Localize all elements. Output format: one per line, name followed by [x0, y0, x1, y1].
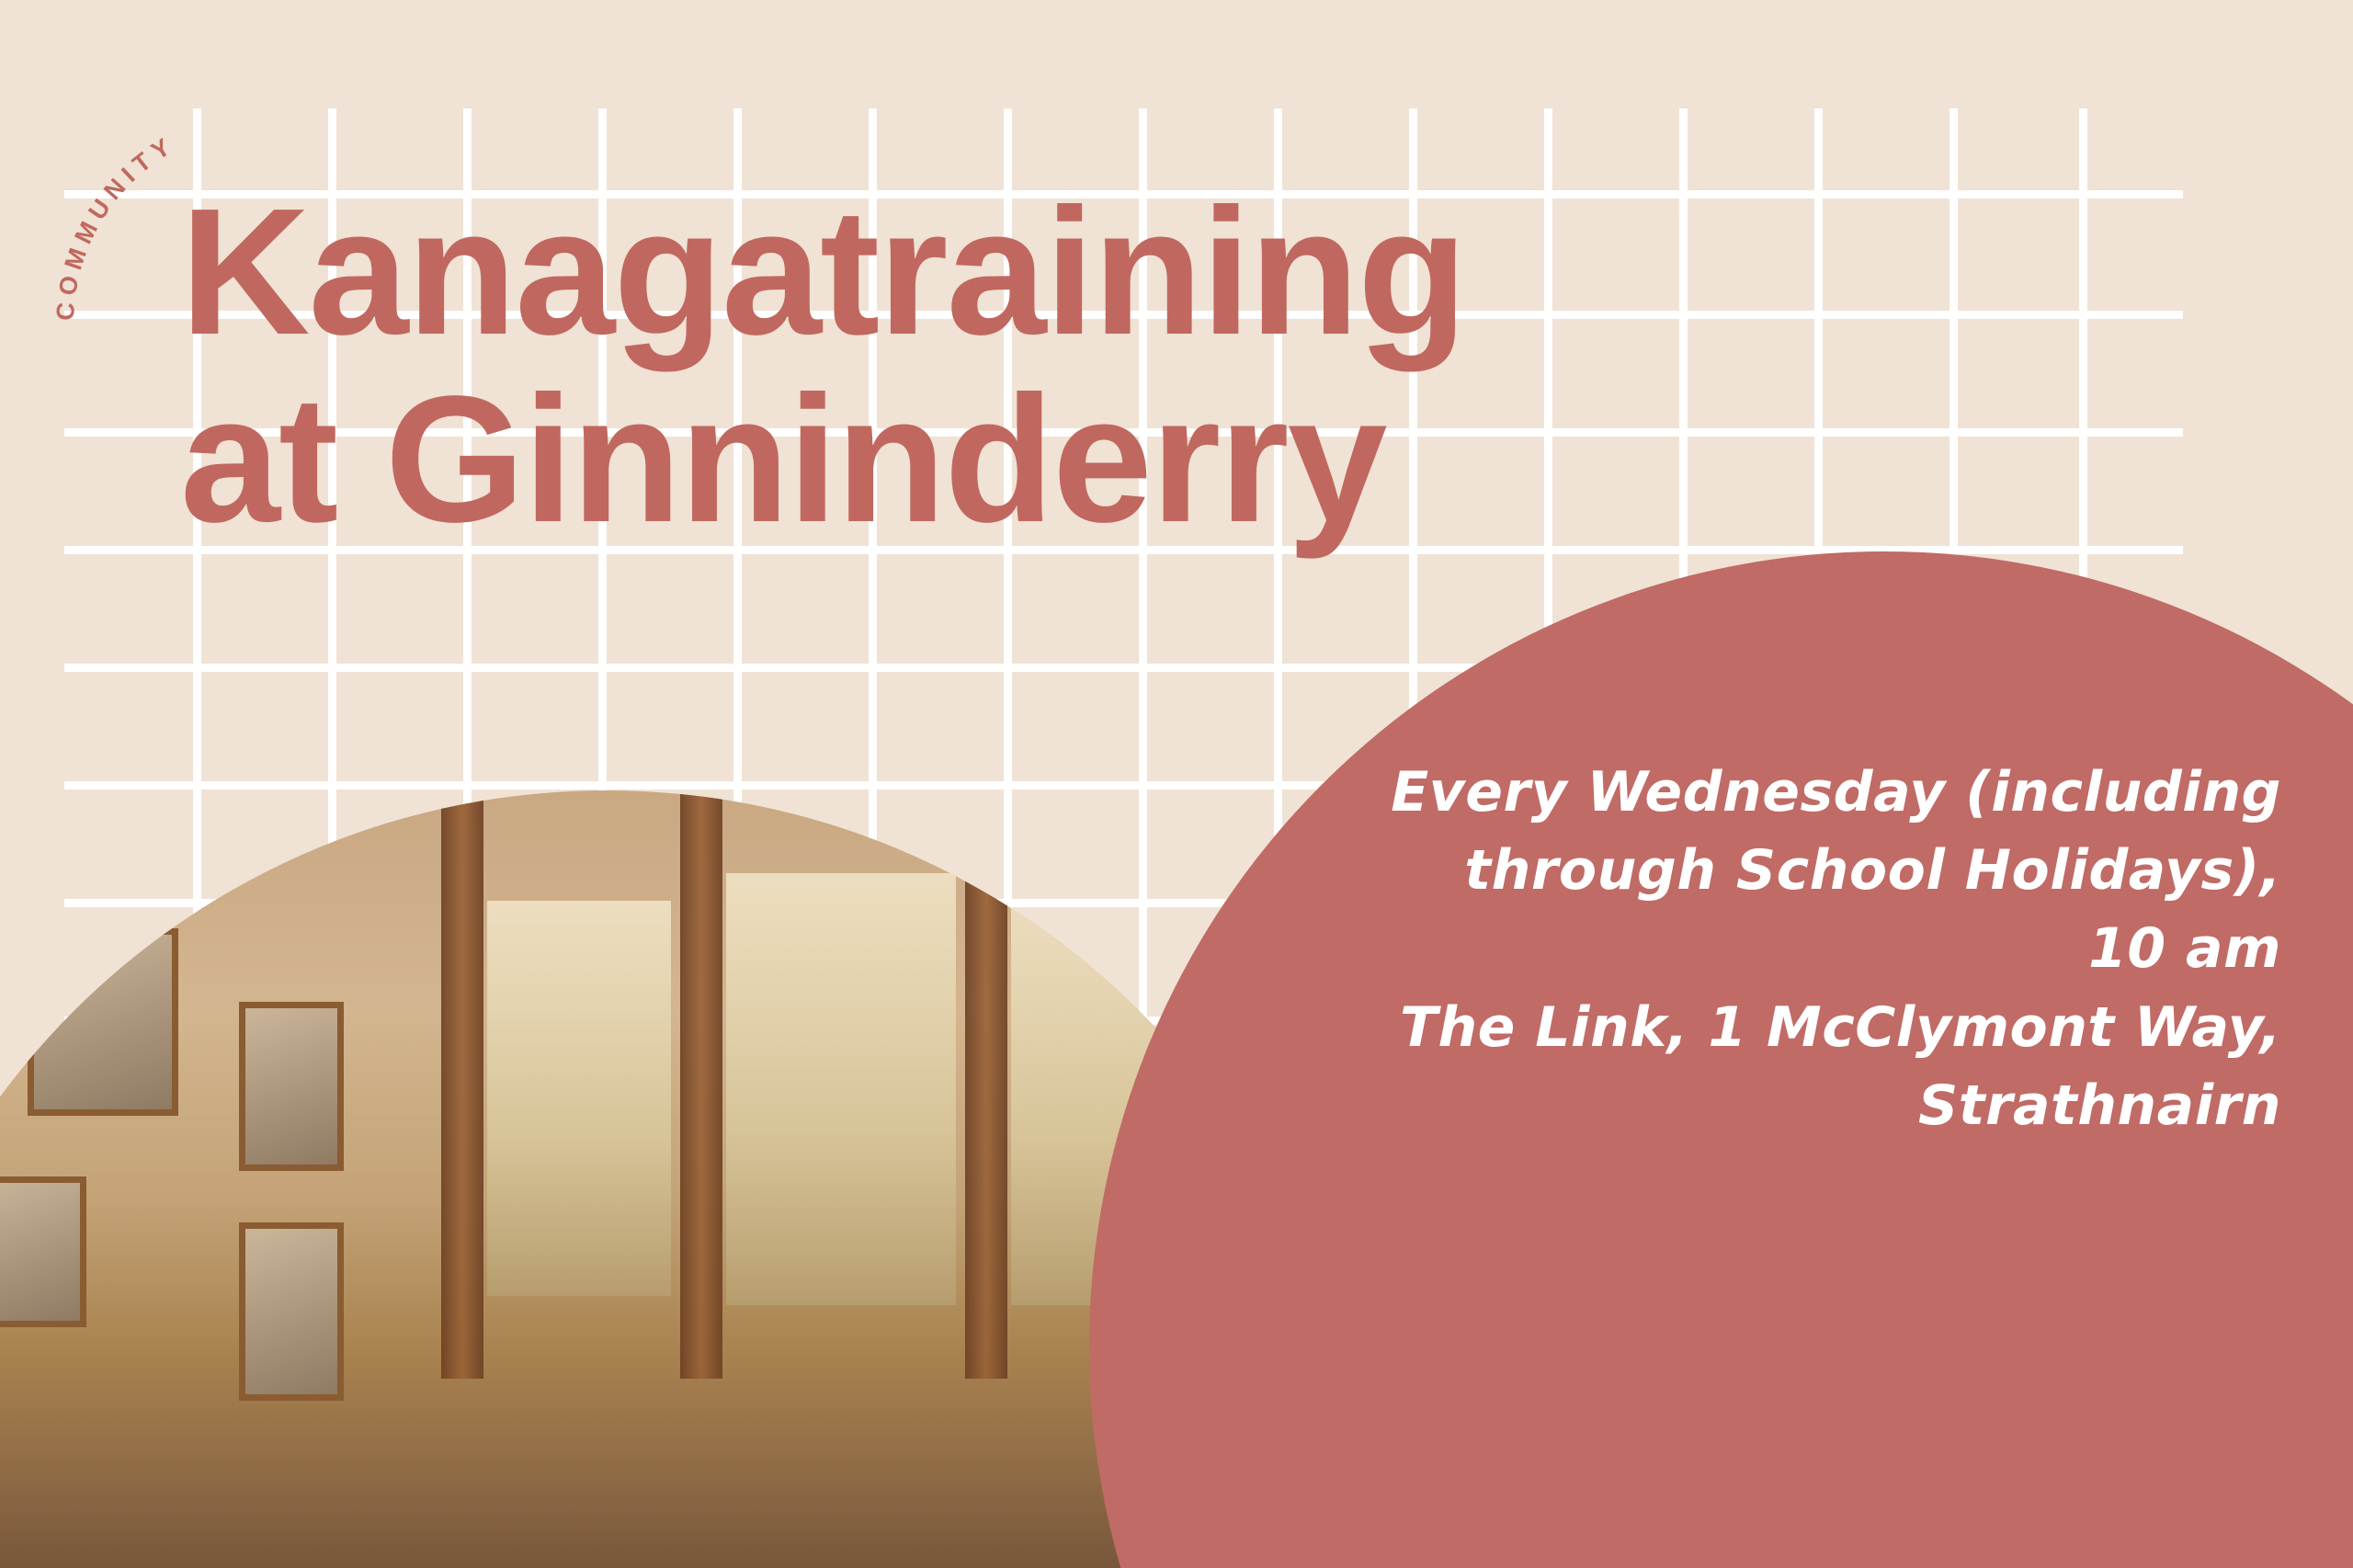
event-details: Every Wednesday (including through Schoo…: [1362, 754, 2281, 1145]
event-detail-line: through School Holidays),: [1362, 832, 2281, 910]
event-detail-line: The Link, 1 McClymont Way,: [1362, 989, 2281, 1067]
timber-post: [680, 790, 722, 1379]
wall-picture-frame: [28, 928, 178, 1116]
promotional-poster: COMMUNITY Kanagatraining at Ginninderry …: [0, 0, 2353, 1568]
title-line-2: at Ginninderry: [180, 371, 1697, 548]
window-pane: [487, 901, 671, 1296]
window-pane: [726, 873, 956, 1305]
wall-picture-frame: [239, 1002, 344, 1171]
page-title: Kanagatraining at Ginninderry: [180, 184, 1697, 548]
event-detail-line: Every Wednesday (including: [1362, 754, 2281, 832]
event-detail-line: Strathnairn: [1362, 1067, 2281, 1145]
wall-picture-frame: [0, 1176, 86, 1327]
community-eyebrow-label: COMMUNITY: [51, 130, 181, 322]
wall-picture-frame: [239, 1222, 344, 1401]
title-line-1: Kanagatraining: [180, 184, 1697, 360]
timber-post: [441, 790, 483, 1379]
timber-post: [965, 790, 1007, 1379]
event-detail-line: 10 am: [1362, 910, 2281, 988]
